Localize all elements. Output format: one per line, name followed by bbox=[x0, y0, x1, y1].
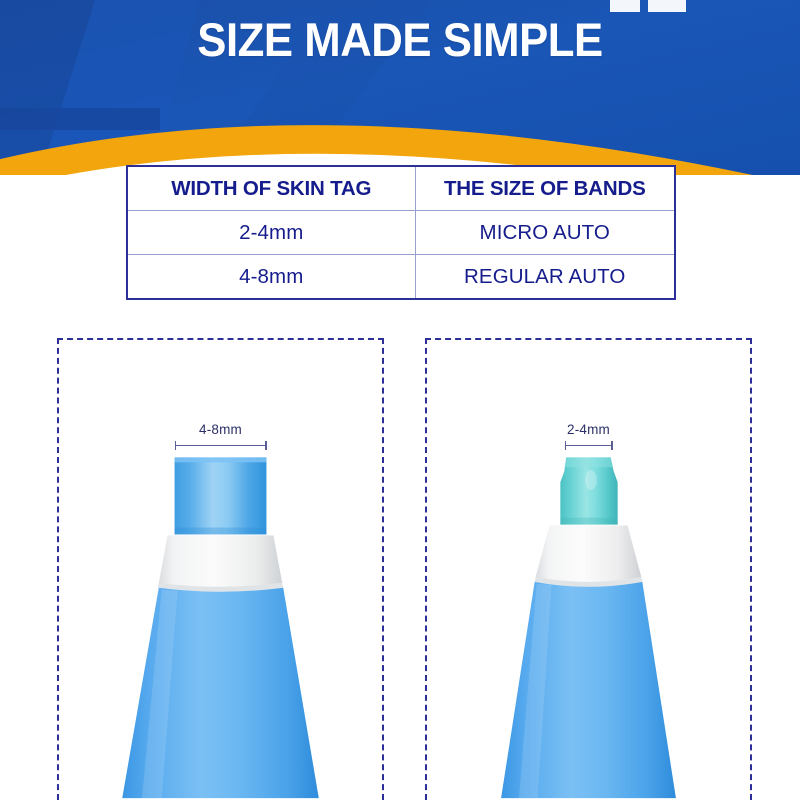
table-cell-band-regular: REGULAR AUTO bbox=[415, 255, 675, 300]
panel-micro-stage: 2-4mm bbox=[427, 340, 750, 800]
table-cell-width-regular: 4-8mm bbox=[127, 255, 415, 300]
panel-regular-stage: 4-8mm bbox=[59, 340, 382, 800]
panel-regular-auto: 4-8mm bbox=[57, 338, 384, 800]
header-banner: SIZE MADE SIMPLE bbox=[0, 0, 800, 175]
table-header-row: WIDTH OF SKIN TAG THE SIZE OF BANDS bbox=[127, 166, 675, 211]
table-header-width: WIDTH OF SKIN TAG bbox=[127, 166, 415, 211]
page-title: SIZE MADE SIMPLE bbox=[28, 14, 772, 66]
size-chart-table: WIDTH OF SKIN TAG THE SIZE OF BANDS 2-4m… bbox=[126, 165, 676, 300]
table-cell-band-micro: MICRO AUTO bbox=[415, 211, 675, 255]
panel-micro-auto: 2-4mm bbox=[425, 338, 752, 800]
table-cell-width-micro: 2-4mm bbox=[127, 211, 415, 255]
device-illustration-regular bbox=[59, 340, 382, 800]
device-illustration-micro bbox=[427, 340, 750, 800]
table-row: 4-8mm REGULAR AUTO bbox=[127, 255, 675, 300]
infographic-page: SIZE MADE SIMPLE WIDTH OF SKIN TAG THE S… bbox=[0, 0, 800, 800]
table-row: 2-4mm MICRO AUTO bbox=[127, 211, 675, 255]
table-header-bands: THE SIZE OF BANDS bbox=[415, 166, 675, 211]
